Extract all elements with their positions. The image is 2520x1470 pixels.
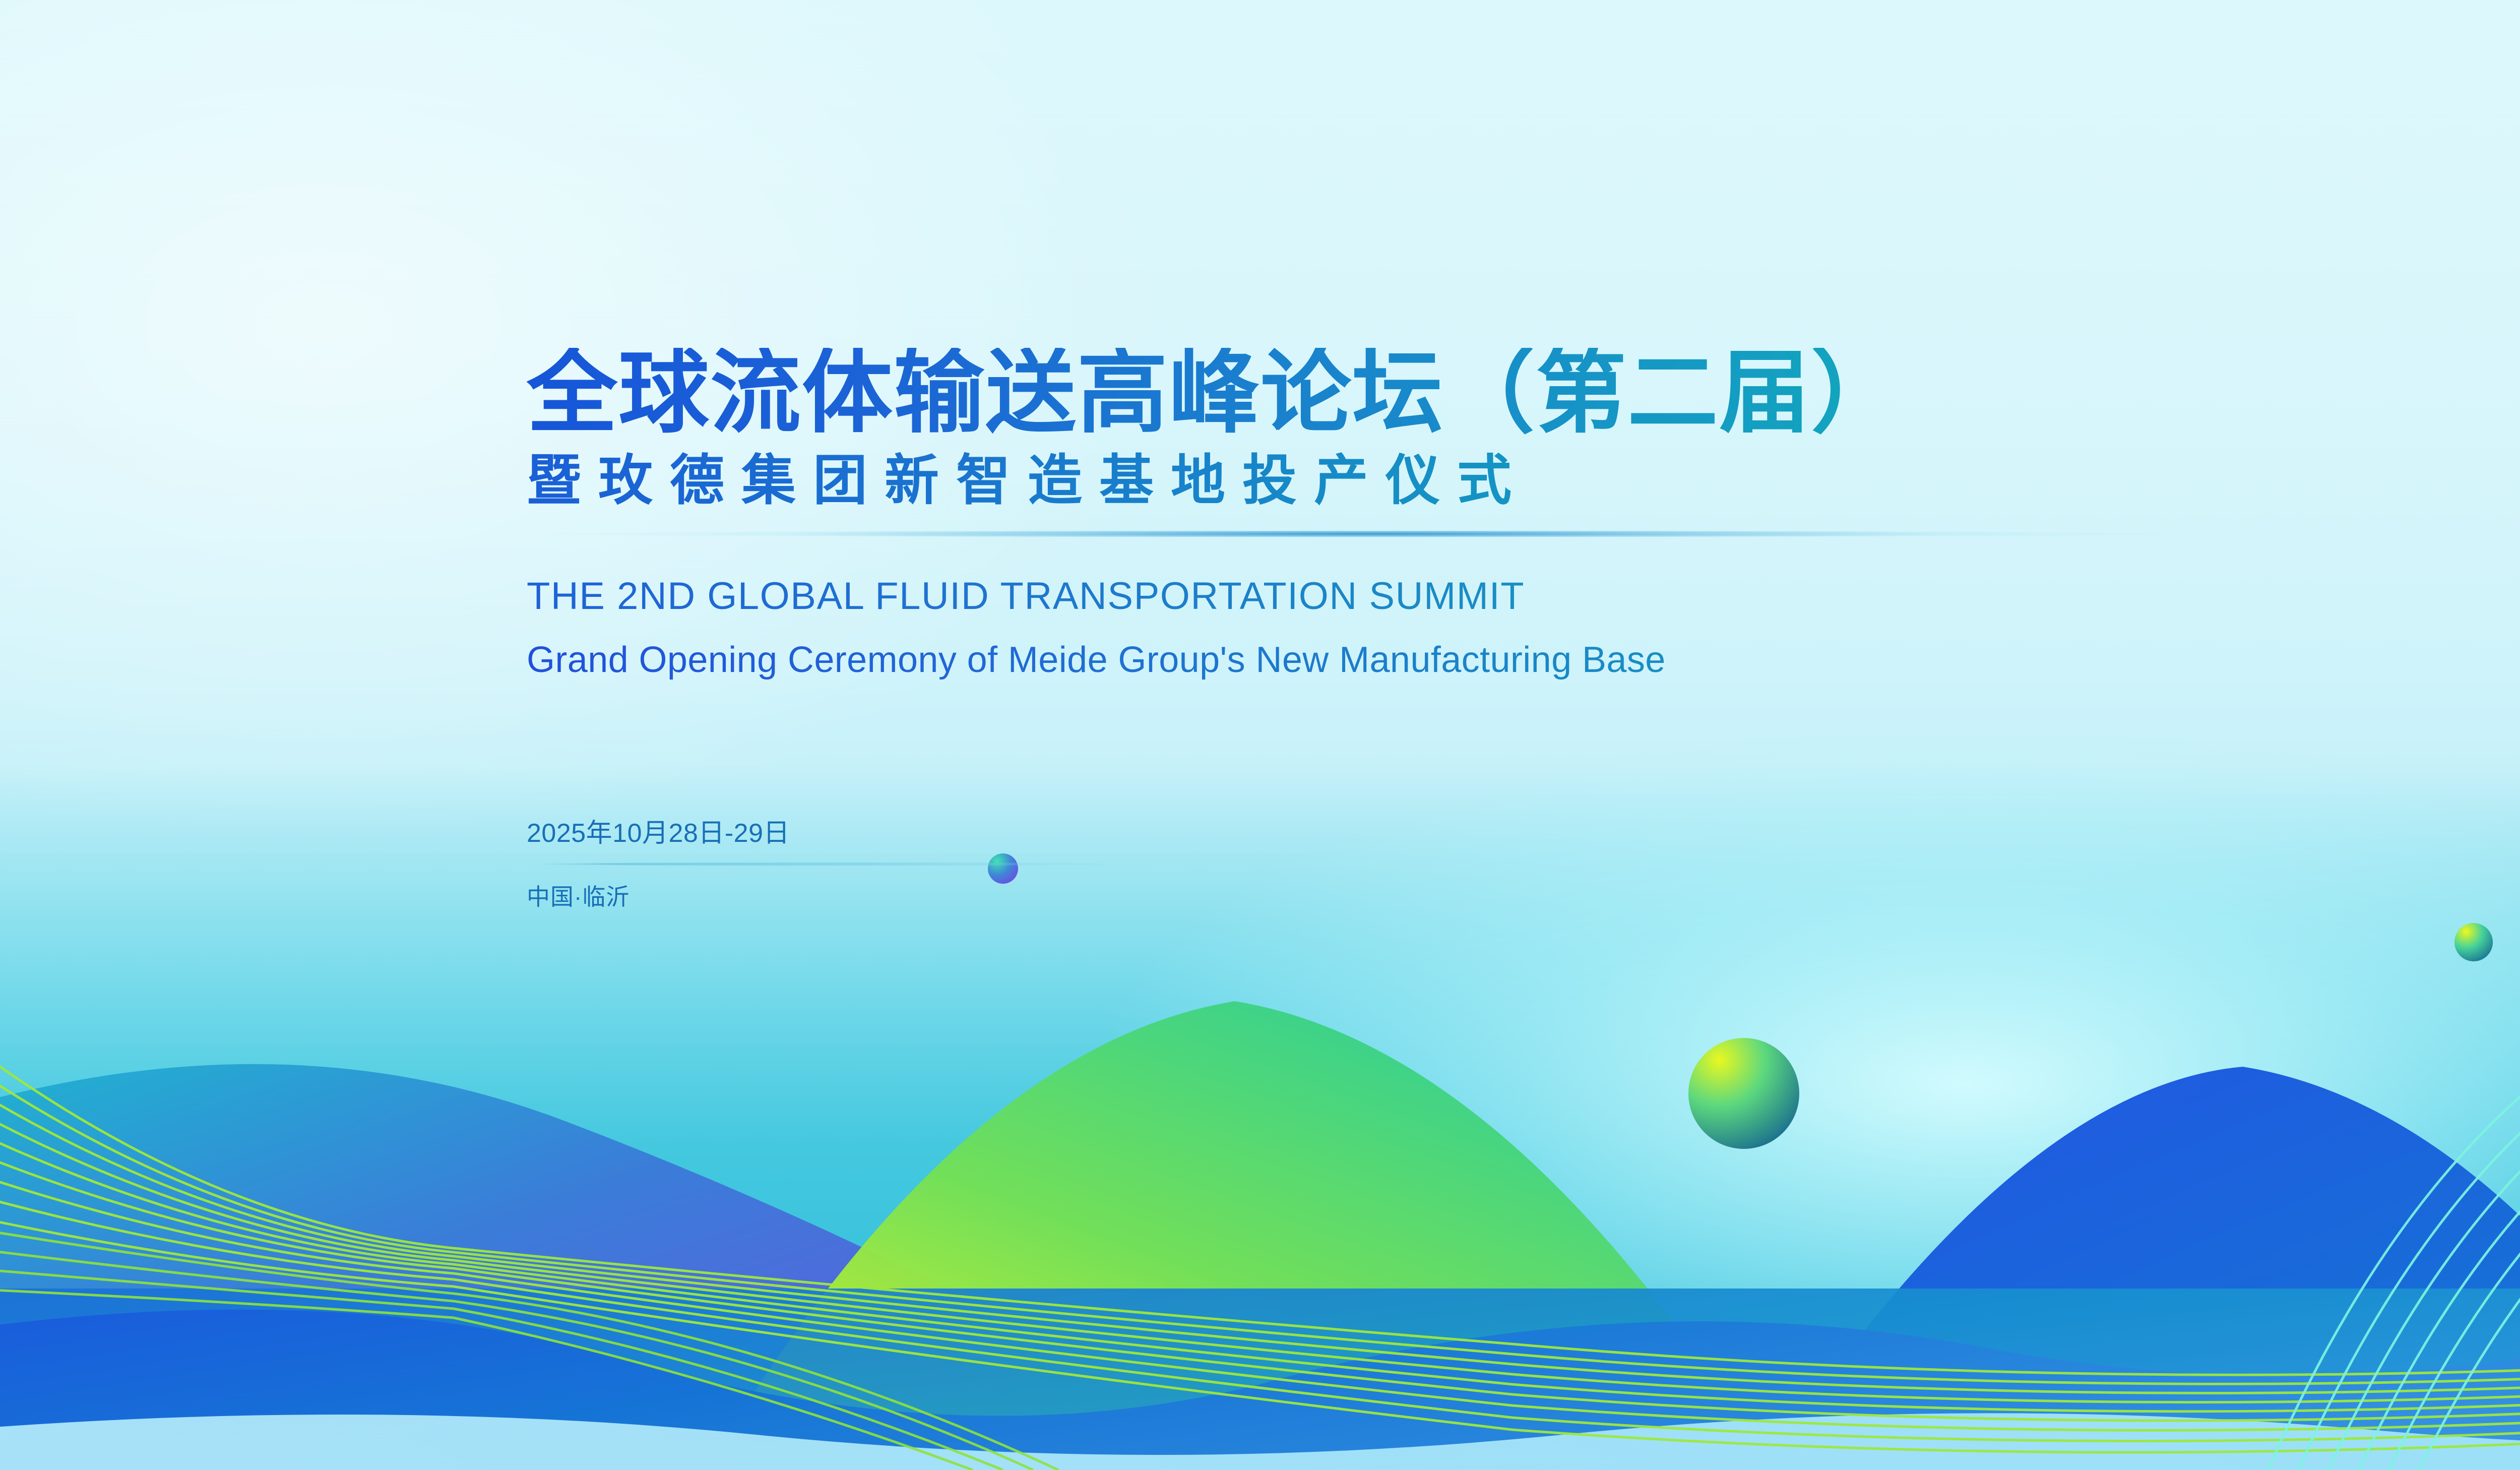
page-title-chinese: 全球流体输送高峰论坛（第二届） xyxy=(527,348,2520,439)
headline-block: 全球流体输送高峰论坛（第二届） 暨玫德集团新智造基地投产仪式 THE 2ND G… xyxy=(527,348,2520,912)
event-date: 2025年10月28日-29日 xyxy=(527,812,2520,849)
page-title-english: THE 2ND GLOBAL FLUID TRANSPORTATION SUMM… xyxy=(527,574,2520,618)
page-subtitle-english: Grand Opening Ceremony of Meide Group's … xyxy=(527,639,2520,681)
headline-divider xyxy=(527,531,2210,537)
meta-divider xyxy=(527,863,1152,866)
event-location: 中国·临沂 xyxy=(527,879,2520,912)
sphere-green-large xyxy=(1688,1038,1799,1149)
page-subtitle-chinese: 暨玫德集团新智造基地投产仪式 xyxy=(527,452,2520,509)
sphere-green-small xyxy=(2454,923,2493,961)
poster-canvas: 全球流体输送高峰论坛（第二届） 暨玫德集团新智造基地投产仪式 THE 2ND G… xyxy=(0,0,2520,1470)
event-meta-block: 2025年10月28日-29日 中国·临沂 xyxy=(527,812,2520,912)
